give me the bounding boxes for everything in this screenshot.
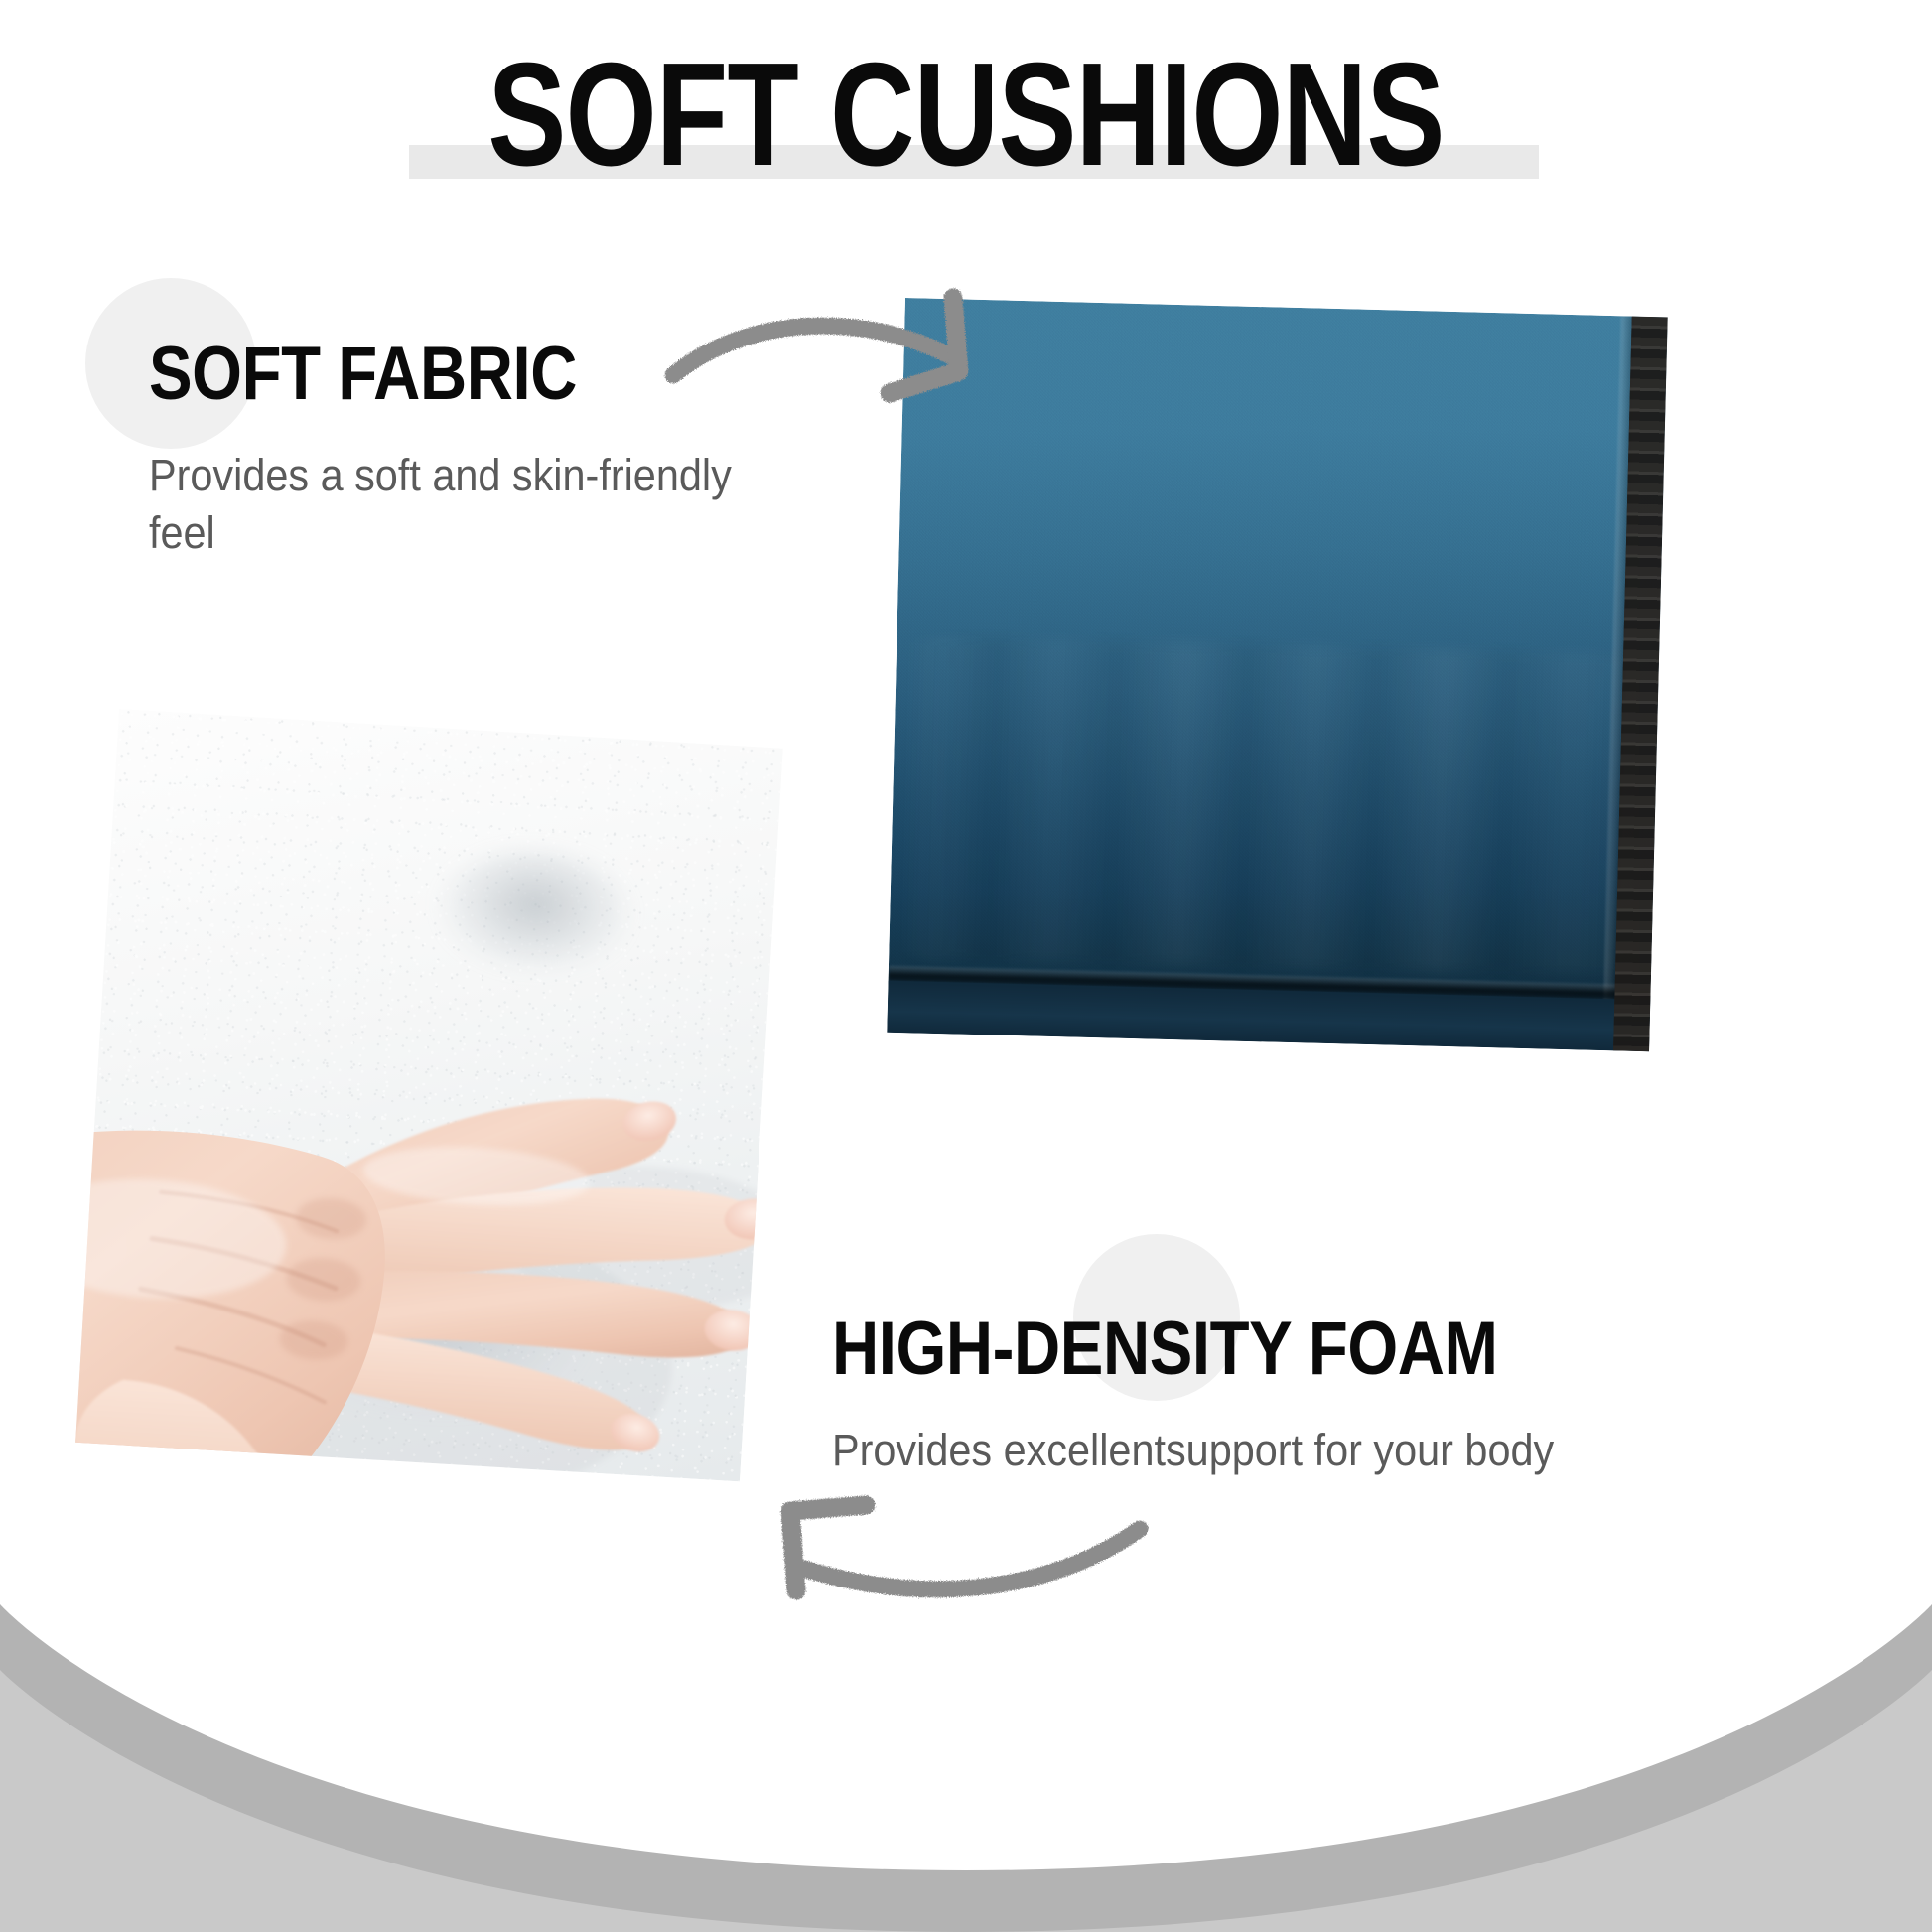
arrow-to-cushion-icon: [655, 286, 1072, 484]
feature-heading-soft-fabric: SOFT FABRIC: [149, 336, 695, 413]
foam-photo: [75, 709, 783, 1481]
feature-block-high-density-foam: HIGH-DENSITY FOAM Provides excellentsupp…: [832, 1311, 1884, 1479]
feature-body-soft-fabric: Provides a soft and skin-friendly feel: [149, 447, 734, 563]
feature-heading-high-density-foam: HIGH-DENSITY FOAM: [832, 1311, 1737, 1388]
hand-illustration: [75, 896, 783, 1481]
infographic-canvas: SOFT CUSHIONS: [0, 0, 1932, 1932]
bottom-arc-decoration: [0, 1604, 1932, 1932]
page-title: SOFT CUSHIONS: [194, 42, 1739, 189]
